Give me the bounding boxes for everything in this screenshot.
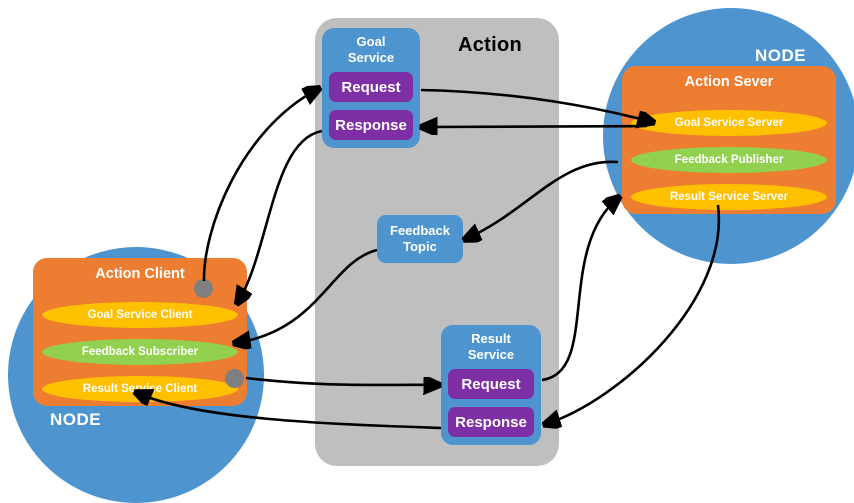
result-service-title-line1: Result — [471, 331, 511, 346]
node-left-label: NODE — [50, 410, 101, 430]
result-request-box[interactable]: Request — [448, 369, 534, 399]
goal-response-box[interactable]: Response — [329, 110, 413, 140]
action-server-box: Action Sever Goal Service Server Feedbac… — [622, 66, 836, 214]
goal-service-title: Goal Service — [322, 34, 420, 66]
result-response-box[interactable]: Response — [448, 407, 534, 437]
connector-dot-result-service-client — [225, 369, 244, 388]
result-service-box: Result Service Request Response — [441, 325, 541, 445]
result-service-title-line2: Service — [468, 347, 514, 362]
feedback-topic-line2: Topic — [403, 239, 437, 254]
feedback-topic-box[interactable]: Feedback Topic — [377, 215, 463, 263]
feedback-topic-line1: Feedback — [390, 223, 450, 238]
pill-feedback-publisher[interactable]: Feedback Publisher — [631, 147, 827, 173]
arrow-goal-client-to-request — [204, 89, 318, 281]
result-service-title: Result Service — [441, 331, 541, 363]
goal-service-title-line2: Service — [348, 50, 394, 65]
goal-service-box: Goal Service Request Response — [322, 28, 420, 148]
pill-feedback-subscriber[interactable]: Feedback Subscriber — [42, 339, 238, 365]
action-panel-title: Action — [430, 34, 550, 57]
action-client-box: Action Client Goal Service Client Feedba… — [33, 258, 247, 406]
connector-dot-goal-service-client — [194, 279, 213, 298]
goal-service-title-line1: Goal — [357, 34, 386, 49]
diagram-canvas: Action Action Sever Goal Service Server … — [0, 0, 854, 480]
pill-result-service-server[interactable]: Result Service Server — [631, 184, 827, 210]
node-right-label: NODE — [755, 46, 806, 66]
action-server-title: Action Sever — [622, 74, 836, 90]
pill-goal-service-server[interactable]: Goal Service Server — [631, 110, 827, 136]
pill-goal-service-client[interactable]: Goal Service Client — [42, 302, 238, 328]
action-client-title: Action Client — [33, 266, 247, 282]
goal-request-box[interactable]: Request — [329, 72, 413, 102]
feedback-topic-label: Feedback Topic — [390, 223, 450, 255]
arrow-goal-response-to-client — [238, 131, 322, 302]
pill-result-service-client[interactable]: Result Service Client — [42, 376, 238, 402]
